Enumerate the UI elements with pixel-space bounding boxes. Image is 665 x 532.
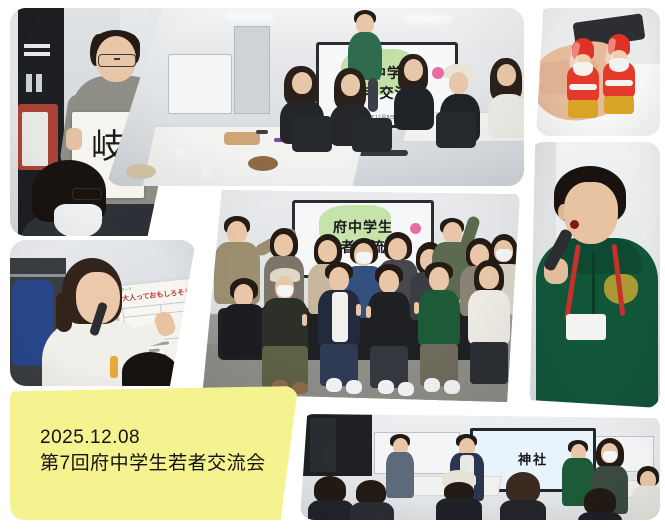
santa-chocolate-icon — [602, 34, 636, 114]
drink-bottle — [110, 356, 118, 378]
photo-mic-speaker — [530, 142, 660, 408]
banner-badge-icon — [410, 223, 421, 234]
paper-cup — [176, 148, 185, 159]
white-poster — [22, 112, 48, 166]
santa-chocolate-icon — [566, 38, 600, 118]
face-mask-icon — [54, 204, 102, 236]
photo-poster-presentation: テーマ 大人っておもしろそう？ — [10, 240, 196, 386]
banner-badge-icon — [432, 67, 444, 79]
glasses-icon — [72, 188, 102, 200]
photo-shrine-presentation: 神社 — [300, 414, 660, 520]
photo-meeting-room: 府中学生 若者交流会 2025年12月8日(日) 開催 — [106, 8, 524, 186]
photo-collage: 岐 府中学生 若者交流 — [0, 0, 665, 532]
pen — [256, 130, 268, 134]
glasses-icon — [98, 54, 136, 67]
person-foreground-back-of-head — [122, 352, 178, 386]
snack-bowl — [126, 164, 156, 179]
wall-sign-icon — [26, 74, 46, 92]
name-badge — [566, 314, 606, 340]
snack-tray — [224, 132, 260, 145]
photo-santa-chocolates — [536, 8, 660, 136]
doorway — [234, 26, 270, 114]
whiteboard — [168, 54, 232, 114]
caption-title: 第7回府中学生若者交流会 — [40, 452, 274, 477]
microphone-tip-icon — [570, 220, 579, 229]
wall-logo-icon — [24, 44, 50, 60]
photo-group: 府中学生 若者交流会 — [196, 190, 520, 402]
caption-date: 2025.12.08 — [40, 426, 274, 450]
snack-bowl — [248, 156, 278, 171]
caption-panel: 2025.12.08 第7回府中学生若者交流会 — [10, 386, 298, 520]
paper-cup — [202, 168, 211, 179]
